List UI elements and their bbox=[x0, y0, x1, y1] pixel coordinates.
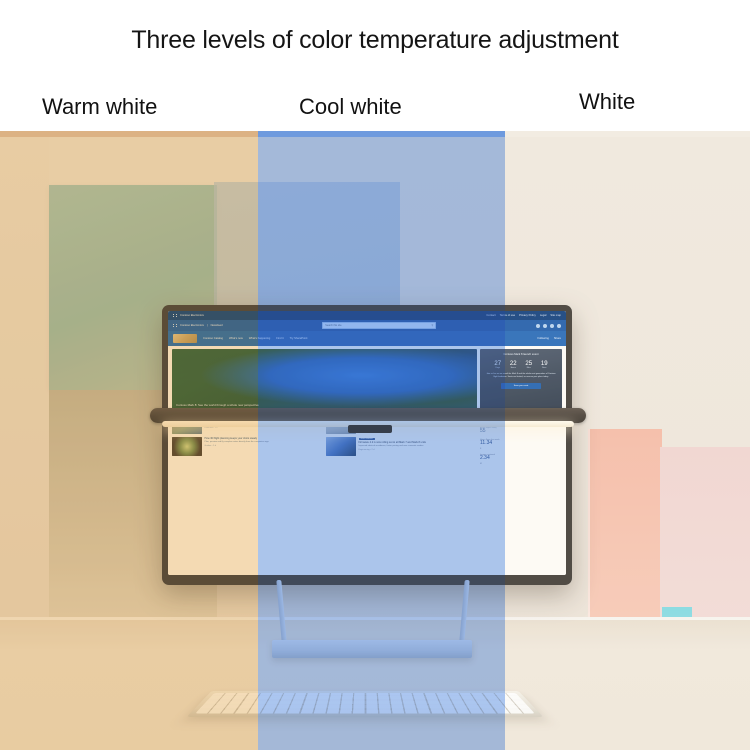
news-desc: Plan, preview and fly complex routes dir… bbox=[205, 441, 324, 444]
notifications-icon[interactable] bbox=[536, 324, 540, 328]
breadcrumb-separator: | bbox=[207, 324, 208, 327]
keyboard bbox=[187, 691, 544, 717]
news-card[interactable]: New release Firmware 4.2 is now rolling … bbox=[326, 437, 477, 456]
topbar-link-privacy[interactable]: Privacy Policy bbox=[519, 314, 536, 317]
suite-topbar: Contoso Electronics Contact Terms of use… bbox=[168, 311, 566, 320]
nav-item-whats-new[interactable]: What's new bbox=[229, 337, 243, 340]
topbar-link-terms[interactable]: Terms of use bbox=[500, 314, 515, 317]
topbar-link-sitemap[interactable]: Site map bbox=[550, 314, 561, 317]
news-desc: Improved obstacle avoidance, faster pair… bbox=[359, 445, 478, 448]
search-placeholder: Search this site bbox=[325, 324, 341, 327]
countdown-unit-hours: 22 Hours bbox=[507, 361, 519, 370]
countdown-value: 22 bbox=[507, 361, 519, 367]
nav-actions: Following Share bbox=[537, 337, 561, 340]
search-icon[interactable]: ⚲ bbox=[432, 324, 434, 327]
countdown-label: Hours bbox=[507, 367, 519, 369]
breadcrumb: Contoso Electronics | Newsfeed bbox=[173, 324, 223, 328]
monitor-stand-base bbox=[272, 640, 472, 658]
desk-edge-highlight bbox=[0, 617, 750, 620]
site-title[interactable]: Contoso Catalog bbox=[203, 337, 223, 340]
breadcrumb-item-site[interactable]: Contoso Electronics bbox=[180, 324, 204, 327]
monitor-light-bar[interactable] bbox=[150, 408, 586, 430]
stat-value: 2.34 bbox=[480, 456, 562, 462]
product-marketing-image: Three levels of color temperature adjust… bbox=[0, 0, 750, 750]
stat-unit: K bbox=[480, 448, 481, 450]
caption-white: White bbox=[579, 89, 635, 115]
stats-panel: Active flights today 55 Hours flown this… bbox=[480, 427, 562, 465]
desk-scene-photo: Contoso Electronics Contact Terms of use… bbox=[0, 137, 750, 750]
countdown-value: 19 bbox=[538, 361, 550, 367]
countdown-label: Secs bbox=[538, 367, 550, 369]
news-card[interactable]: How 3D flight planning keeps your shots … bbox=[172, 437, 323, 456]
stat-item: Images captured 2.34 M bbox=[480, 454, 562, 465]
site-nav: Contoso Catalog What's new What's happen… bbox=[168, 331, 566, 346]
monitor-screen: Contoso Electronics Contact Terms of use… bbox=[168, 311, 566, 575]
topbar-links: Contact Terms of use Privacy Policy Lega… bbox=[486, 314, 561, 317]
help-icon[interactable] bbox=[550, 324, 554, 328]
grid-icon[interactable] bbox=[173, 324, 177, 328]
monitor: Contoso Electronics Contact Terms of use… bbox=[162, 305, 572, 585]
hero-headline: Contoso Mark 8: See the world through a … bbox=[176, 403, 259, 407]
nav-items: What's new What's happening Find it Try … bbox=[229, 337, 531, 340]
news-title: How 3D flight planning keeps your shots … bbox=[205, 437, 324, 440]
topbar-link-legal[interactable]: Legal bbox=[540, 314, 547, 317]
stat-unit: M bbox=[480, 463, 482, 465]
site-logo-icon[interactable] bbox=[173, 334, 197, 343]
nav-item-find-it[interactable]: Find it bbox=[276, 337, 283, 340]
hero-banner[interactable]: Contoso Mark 8: See the world through a … bbox=[172, 349, 477, 412]
topbar-link-contact[interactable]: Contact bbox=[486, 314, 495, 317]
countdown-value: 25 bbox=[523, 361, 535, 367]
share-button[interactable]: Share bbox=[554, 337, 561, 340]
news-thumbnail bbox=[172, 437, 202, 456]
suite-brand-label: Contoso Electronics bbox=[180, 314, 204, 317]
news-meta: Engineering • 2 d bbox=[359, 449, 478, 451]
news-meta: Guides • 1 d bbox=[205, 445, 324, 447]
caption-warm-white: Warm white bbox=[42, 94, 157, 120]
avatar[interactable] bbox=[557, 324, 561, 328]
countdown-unit-mins: 25 Mins bbox=[523, 361, 535, 370]
countdown-label: Mins bbox=[523, 367, 535, 369]
countdown-timer: 27 Days 22 Hours 25 bbox=[484, 361, 558, 370]
search-row: Contoso Electronics | Newsfeed Search th… bbox=[168, 320, 566, 331]
promo-body: Join us live as we unveil the Mark 8 and… bbox=[484, 373, 558, 379]
stat-value: 11.34 bbox=[480, 441, 562, 447]
nav-item-whats-happening[interactable]: What's happening bbox=[249, 337, 270, 340]
countdown-unit-secs: 19 Secs bbox=[538, 361, 550, 370]
news-badge: New release bbox=[359, 438, 375, 441]
nav-item-try-sharepoint[interactable]: Try SharePoint bbox=[290, 337, 308, 340]
promo-cta-button[interactable]: Save your seat bbox=[501, 383, 541, 390]
light-bar-mount-clip bbox=[348, 425, 392, 433]
suite-brand[interactable]: Contoso Electronics bbox=[173, 314, 204, 318]
keyboard-keys bbox=[195, 693, 534, 713]
page-title: Three levels of color temperature adjust… bbox=[0, 26, 750, 55]
stat-item: Hours flown this week 11.34 K bbox=[480, 439, 562, 450]
caption-cool-white: Cool white bbox=[299, 94, 402, 120]
search-input[interactable]: Search this site ⚲ bbox=[322, 322, 436, 330]
app-launcher-icon[interactable] bbox=[173, 314, 177, 318]
news-thumbnail bbox=[326, 437, 356, 456]
account-icons bbox=[536, 324, 561, 328]
promo-title: Contoso Mark 8 launch event bbox=[484, 353, 558, 357]
countdown-unit-days: 27 Days bbox=[492, 361, 504, 370]
tint-swatch-cool bbox=[258, 131, 505, 137]
countdown-value: 27 bbox=[492, 361, 504, 367]
breadcrumb-item-page[interactable]: Newsfeed bbox=[211, 324, 223, 327]
tint-swatch-white bbox=[505, 131, 750, 137]
desk-surface bbox=[0, 617, 750, 750]
header-banner: Three levels of color temperature adjust… bbox=[0, 0, 750, 137]
follow-button[interactable]: Following bbox=[537, 337, 548, 340]
webpage: Contoso Electronics Contact Terms of use… bbox=[168, 311, 566, 575]
color-temperature-strip bbox=[0, 131, 750, 137]
settings-gear-icon[interactable] bbox=[543, 324, 547, 328]
countdown-label: Days bbox=[492, 367, 504, 369]
tint-swatch-warm bbox=[0, 131, 258, 137]
